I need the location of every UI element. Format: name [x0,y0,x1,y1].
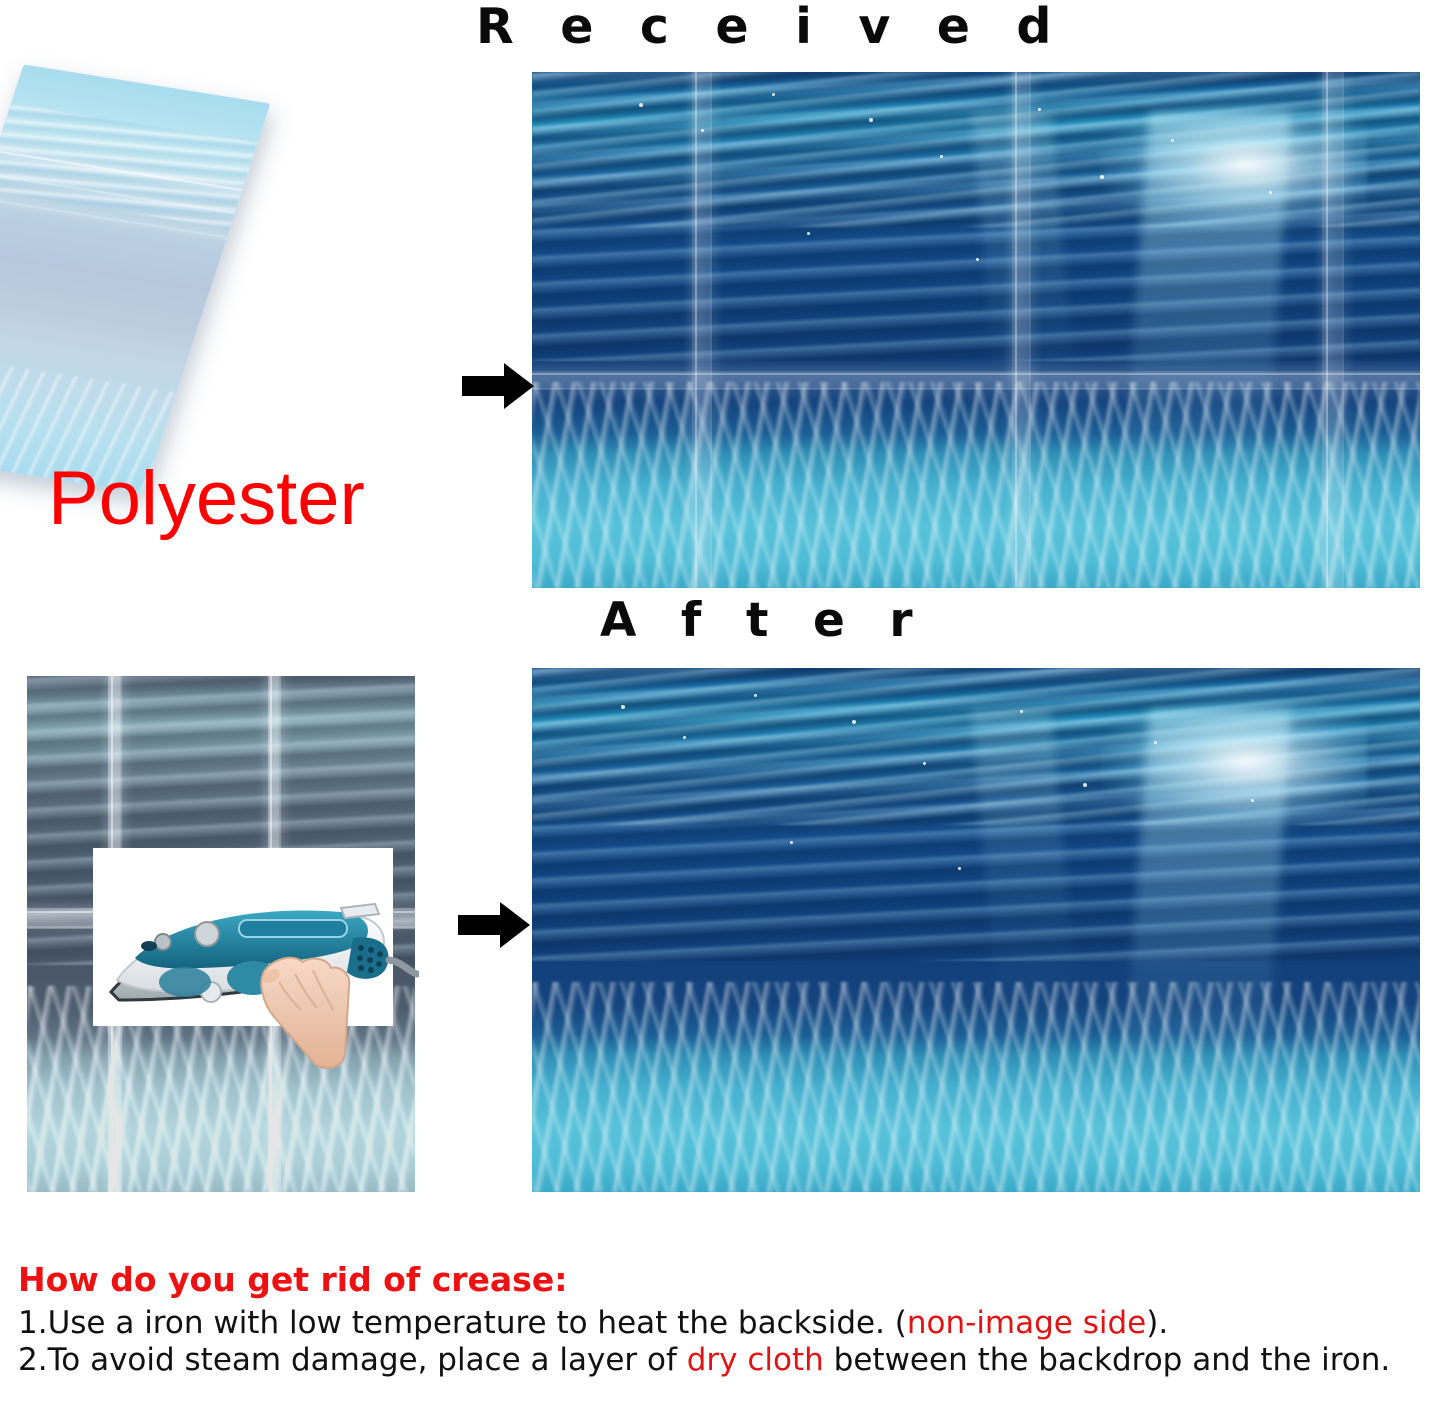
steam-iron-illustration [89,842,419,1072]
bubbles [532,72,1420,588]
iron-photo [93,848,392,1025]
received-backdrop-image [532,72,1420,588]
instructions-title: How do you get rid of crease: [18,1262,1428,1299]
instruction-2-highlight: dry cloth [687,1342,824,1378]
fabric-swatch-image [0,64,270,493]
right-arrow-icon [462,361,534,411]
instructions-block: How do you get rid of crease: 1.Use a ir… [18,1262,1428,1378]
instruction-1-suffix: ). [1146,1305,1168,1341]
instruction-1-prefix: 1.Use a iron with low temperature to hea… [18,1305,907,1341]
after-backdrop-image [532,668,1420,1192]
polyester-label: Polyester [48,461,365,537]
heading-received: R e c e i v e d [476,2,1066,51]
right-arrow-icon [458,900,530,950]
instruction-1-highlight: non-image side [907,1305,1146,1341]
instruction-2-suffix: between the backdrop and the iron. [824,1342,1390,1378]
instruction-line-1: 1.Use a iron with low temperature to hea… [18,1305,1428,1342]
instruction-line-2: 2.To avoid steam damage, place a layer o… [18,1342,1428,1379]
heading-after: A f t e r [600,597,927,644]
bubbles [532,668,1420,1192]
instruction-2-prefix: 2.To avoid steam damage, place a layer o… [18,1342,687,1378]
